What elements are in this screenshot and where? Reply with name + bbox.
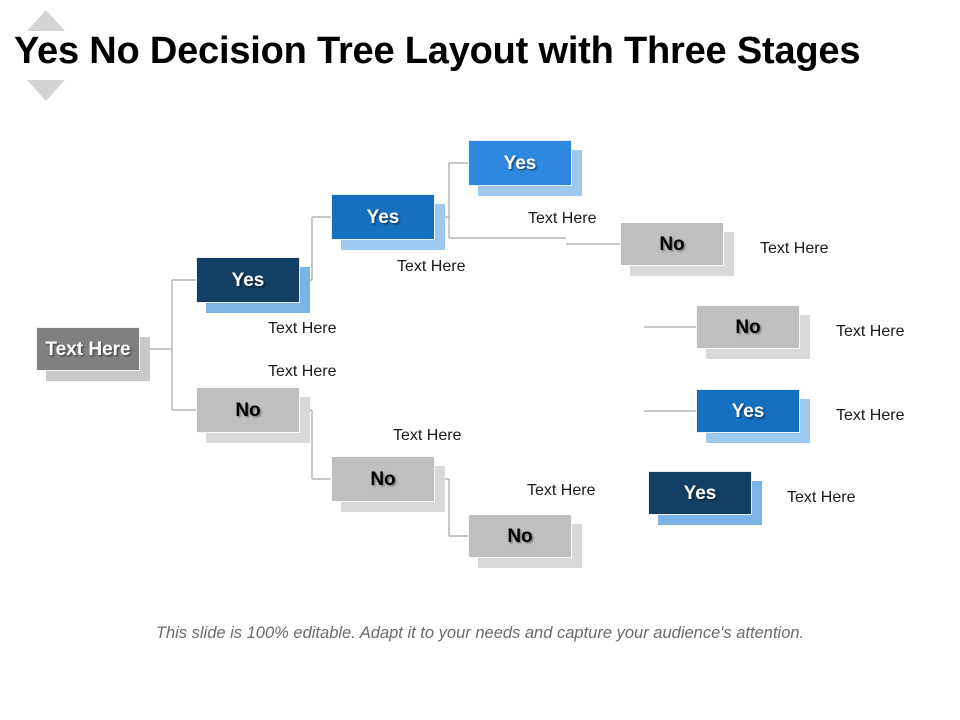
caption-cap-right-2: Text Here [836, 324, 904, 340]
footer-note: This slide is 100% editable. Adapt it to… [120, 620, 840, 646]
node-label-root: Text Here [45, 340, 130, 359]
node-label-l3-no-3: No [507, 527, 532, 546]
node-l3-no-1[interactable]: No [620, 222, 724, 266]
node-l3-no-2[interactable]: No [696, 305, 800, 349]
node-l2-yes[interactable]: Yes [331, 194, 435, 240]
node-l1-yes[interactable]: Yes [196, 257, 300, 303]
caption-cap-right-1: Text Here [760, 241, 828, 257]
caption-cap-l2-yes: Text Here [397, 259, 465, 275]
slide-canvas: Yes No Decision Tree Layout with Three S… [0, 0, 960, 720]
node-label-l2-yes: Yes [367, 208, 400, 227]
node-label-l1-yes: Yes [232, 271, 265, 290]
caption-cap-l3-no-1: Text Here [528, 211, 596, 227]
caption-cap-l2-no: Text Here [393, 428, 461, 444]
decision-tree-diagram: Text HereYesNoYesNoYesNoNoYesYesNoText H… [0, 0, 960, 720]
node-l3-no-3[interactable]: No [468, 514, 572, 558]
node-label-l3-yes-top: Yes [504, 154, 537, 173]
node-l2-no[interactable]: No [331, 456, 435, 502]
caption-cap-l1-yes: Text Here [268, 321, 336, 337]
node-label-l3-yes-3: Yes [684, 484, 717, 503]
caption-cap-right-4: Text Here [787, 490, 855, 506]
node-l3-yes-top[interactable]: Yes [468, 140, 572, 186]
caption-cap-l3-no-3: Text Here [527, 483, 595, 499]
node-label-l3-no-1: No [659, 235, 684, 254]
node-label-l3-no-2: No [735, 318, 760, 337]
node-label-l3-yes-2: Yes [732, 402, 765, 421]
node-l3-yes-2[interactable]: Yes [696, 389, 800, 433]
caption-cap-l1-no: Text Here [268, 364, 336, 380]
node-l1-no[interactable]: No [196, 387, 300, 433]
caption-cap-right-3: Text Here [836, 408, 904, 424]
node-label-l2-no: No [370, 470, 395, 489]
node-l3-yes-3[interactable]: Yes [648, 471, 752, 515]
node-label-l1-no: No [235, 401, 260, 420]
node-root[interactable]: Text Here [36, 327, 140, 371]
